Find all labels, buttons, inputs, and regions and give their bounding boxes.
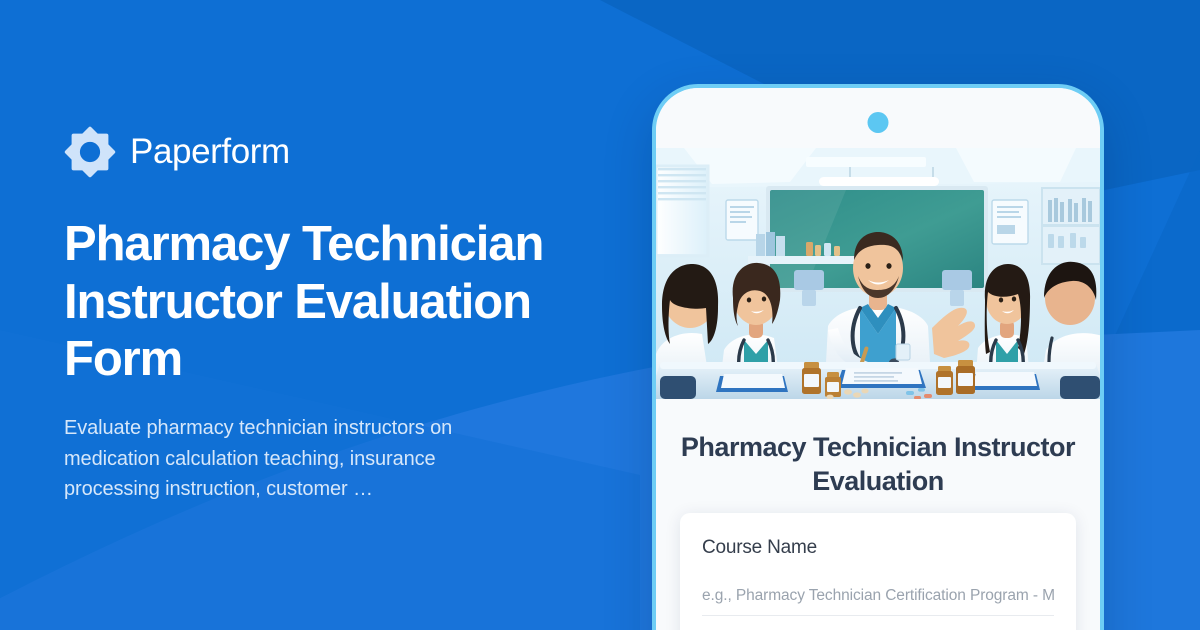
brand-name: Paperform <box>130 134 290 169</box>
field-label-course-name: Course Name <box>702 537 1054 559</box>
classroom-illustration <box>656 148 1100 399</box>
brand-lockup: Paperform <box>64 126 644 178</box>
course-name-input[interactable]: e.g., Pharmacy Technician Certification … <box>702 587 1054 616</box>
page-subtitle: Evaluate pharmacy technician instructors… <box>64 413 519 504</box>
phone-mockup: Pharmacy Technician Instructor Evaluatio… <box>652 84 1104 630</box>
hero-content: Paperform Pharmacy Technician Instructor… <box>64 0 644 630</box>
front-camera-dot-icon <box>868 112 889 133</box>
form-title: Pharmacy Technician Instructor Evaluatio… <box>656 430 1100 499</box>
page-title: Pharmacy Technician Instructor Evaluatio… <box>64 216 604 389</box>
phone-screen: Pharmacy Technician Instructor Evaluatio… <box>656 88 1100 630</box>
form-card: Course Name e.g., Pharmacy Technician Ce… <box>680 513 1076 630</box>
form-hero-image <box>656 148 1100 399</box>
paperform-star-logo-icon <box>64 126 116 178</box>
